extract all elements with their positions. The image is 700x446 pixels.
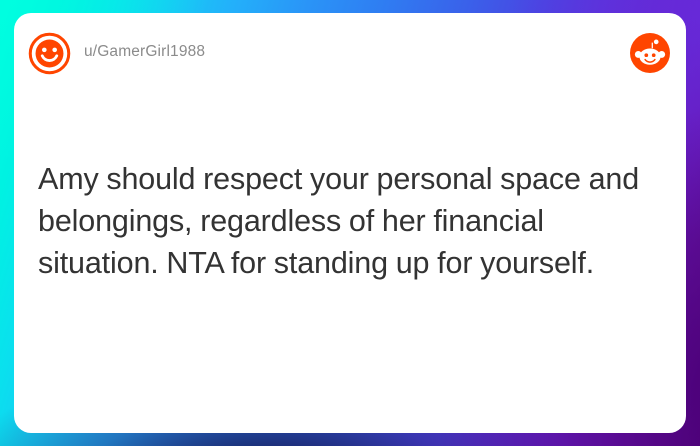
avatar[interactable] (28, 32, 71, 75)
author-username[interactable]: u/GamerGirl1988 (84, 43, 205, 61)
post-card: u/GamerGirl1988 (14, 13, 686, 433)
smiley-face-icon (28, 32, 71, 75)
post-header: u/GamerGirl1988 (14, 13, 686, 99)
reddit-logo[interactable] (630, 33, 670, 73)
post-body-text: Amy should respect your personal space a… (38, 158, 670, 285)
screenshot-canvas: u/GamerGirl1988 (0, 0, 700, 446)
reddit-snoo-icon (630, 33, 670, 73)
